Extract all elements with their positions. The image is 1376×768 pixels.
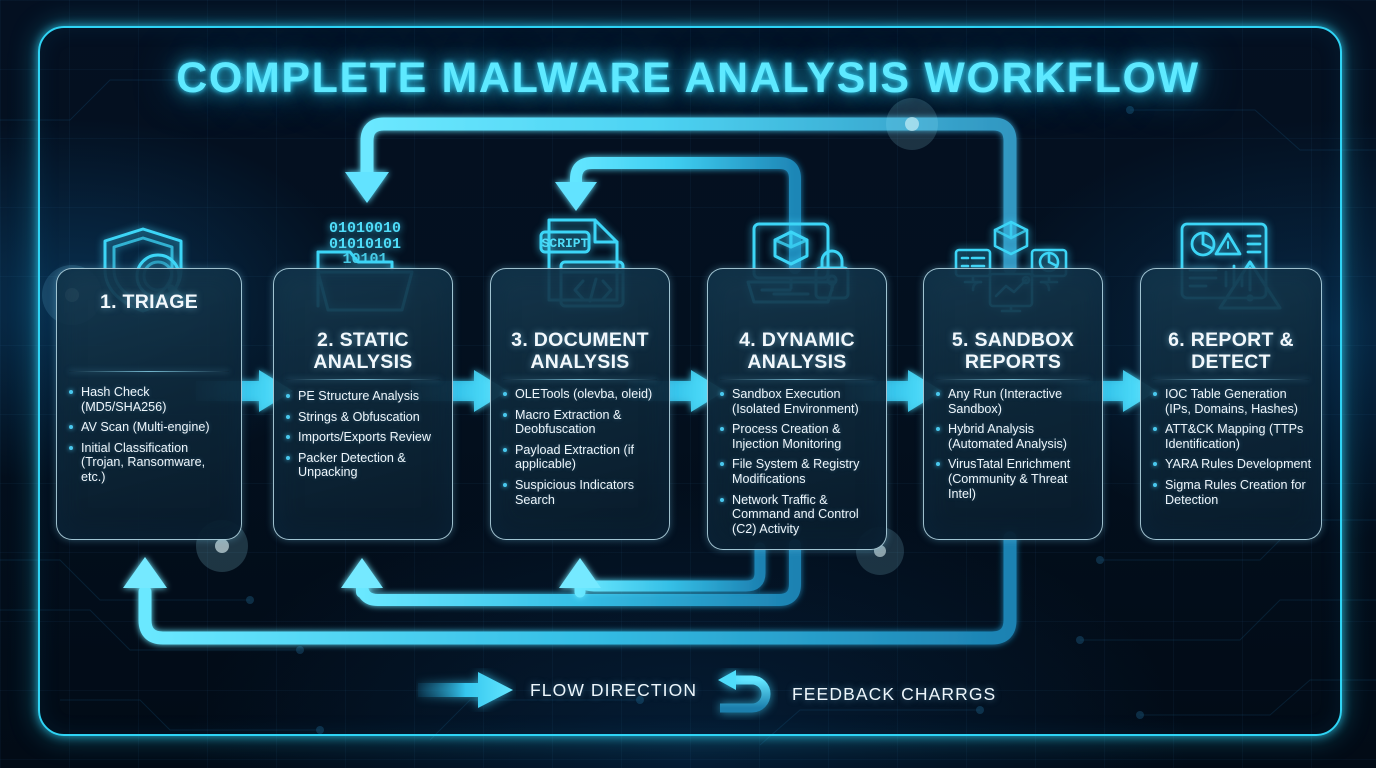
list-item: Packer Detection & Unpacking: [284, 451, 444, 480]
list-item: YARA Rules Development: [1151, 457, 1313, 472]
card-bullet-list: PE Structure Analysis Strings & Obfuscat…: [284, 389, 444, 486]
step-card-triage[interactable]: 1. TRIAGE Hash Check (MD5/SHA256) AV Sca…: [56, 268, 242, 540]
card-title: 5. SANDBOX REPORTS: [932, 329, 1094, 373]
card-bullet-list: OLETools (olevba, oleid) Macro Extractio…: [501, 387, 661, 513]
list-item: Process Creation & Injection Monitoring: [718, 422, 878, 451]
list-item: IOC Table Generation (IPs, Domains, Hash…: [1151, 387, 1313, 416]
step-card-report-detect[interactable]: 6. REPORT & DETECT IOC Table Generation …: [1140, 268, 1322, 540]
list-item: ATT&CK Mapping (TTPs Identification): [1151, 422, 1313, 451]
list-item: Strings & Obfuscation: [284, 410, 444, 425]
list-item: VirusTatal Enrichment (Community & Threa…: [934, 457, 1094, 501]
list-item: Initial Classification (Trojan, Ransomwa…: [67, 441, 233, 485]
list-item: PE Structure Analysis: [284, 389, 444, 404]
card-separator: [936, 379, 1090, 380]
step-card-document-analysis[interactable]: 3. DOCUMENT ANALYSIS OLETools (olevba, o…: [490, 268, 670, 540]
card-title: 6. REPORT & DETECT: [1149, 329, 1313, 373]
right-arrow-icon: [416, 668, 516, 712]
list-item: Hash Check (MD5/SHA256): [67, 385, 233, 414]
svg-text:SCRIPT: SCRIPT: [542, 236, 589, 251]
list-item: Network Traffic & Command and Control (C…: [718, 493, 878, 537]
legend-label: FLOW DIRECTION: [530, 680, 697, 701]
list-item: Any Run (Interactive Sandbox): [934, 387, 1094, 416]
svg-text:01010010: 01010010: [329, 220, 401, 237]
card-separator: [69, 371, 229, 372]
list-item: Macro Extraction & Deobfuscation: [501, 408, 661, 437]
card-title: 3. DOCUMENT ANALYSIS: [499, 329, 661, 373]
feedback-loop-bottom-mid: [341, 545, 795, 600]
list-item: Hybrid Analysis (Automated Analysis): [934, 422, 1094, 451]
card-bullet-list: Hash Check (MD5/SHA256) AV Scan (Multi-e…: [67, 385, 233, 491]
card-separator: [1153, 379, 1309, 380]
card-separator: [720, 379, 874, 380]
feedback-loop-icon: [712, 668, 778, 720]
step-card-sandbox-reports[interactable]: 5. SANDBOX REPORTS Any Run (Interactive …: [923, 268, 1103, 540]
card-title: 2. STATIC ANALYSIS: [282, 329, 444, 373]
list-item: OLETools (olevba, oleid): [501, 387, 661, 402]
card-title: 1. TRIAGE: [65, 291, 233, 313]
svg-text:10101: 10101: [342, 251, 387, 268]
card-title: 4. DYNAMIC ANALYSIS: [716, 329, 878, 373]
step-card-static-analysis[interactable]: 2. STATIC ANALYSIS PE Structure Analysis…: [273, 268, 453, 540]
step-card-dynamic-analysis[interactable]: 4. DYNAMIC ANALYSIS Sandbox Execution (I…: [707, 268, 887, 550]
list-item: Suspicious Indicators Search: [501, 478, 661, 507]
card-bullet-list: Any Run (Interactive Sandbox) Hybrid Ana…: [934, 387, 1094, 507]
card-separator: [286, 379, 440, 380]
list-item: Imports/Exports Review: [284, 430, 444, 445]
feedback-loop-bottom-short: [559, 548, 760, 592]
card-bullet-list: IOC Table Generation (IPs, Domains, Hash…: [1151, 387, 1313, 513]
card-separator: [503, 379, 657, 380]
legend: FLOW DIRECTION FEEDBACK CHARRGS: [0, 660, 1376, 720]
list-item: File System & Registry Modifications: [718, 457, 878, 486]
legend-item-feedback-charrgs: FEEDBACK CHARRGS: [712, 668, 996, 720]
legend-label: FEEDBACK CHARRGS: [792, 684, 996, 705]
list-item: AV Scan (Multi-engine): [67, 420, 233, 435]
legend-item-flow-direction: FLOW DIRECTION: [416, 668, 697, 712]
list-item: Sandbox Execution (Isolated Environment): [718, 387, 878, 416]
list-item: Sigma Rules Creation for Detection: [1151, 478, 1313, 507]
card-bullet-list: Sandbox Execution (Isolated Environment)…: [718, 387, 878, 542]
list-item: Payload Extraction (if applicable): [501, 443, 661, 472]
